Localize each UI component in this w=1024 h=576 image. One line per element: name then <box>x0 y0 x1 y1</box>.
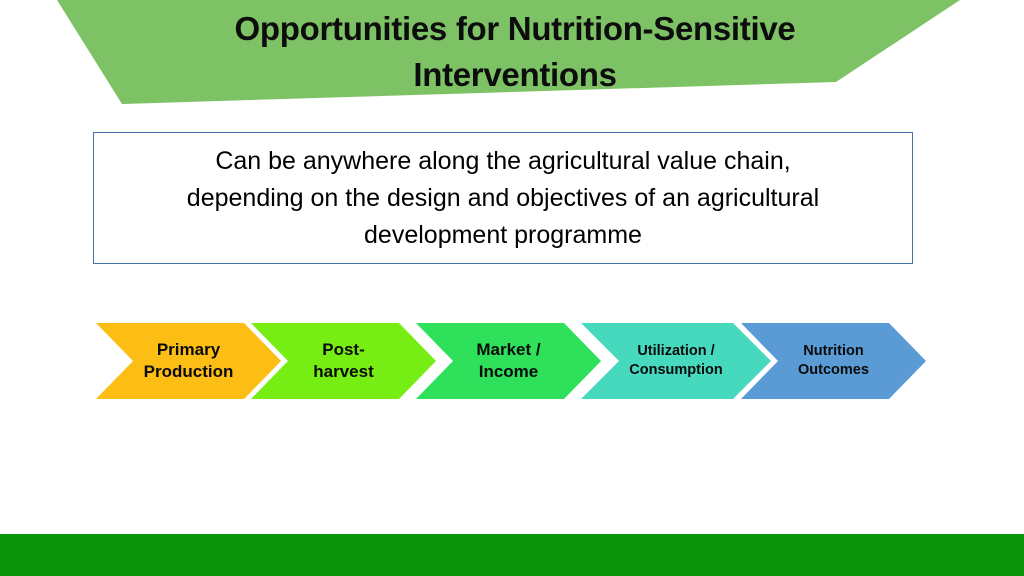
slide-canvas: Opportunities for Nutrition-Sensitive In… <box>0 0 1024 576</box>
value-chain-step-label: Primary Production <box>144 339 234 383</box>
value-chain-step-label: Utilization / Consumption <box>629 342 722 380</box>
page-title: Opportunities for Nutrition-Sensitive In… <box>120 6 910 98</box>
value-chain-step-label: Nutrition Outcomes <box>798 342 869 380</box>
description-text: Can be anywhere along the agricultural v… <box>173 143 833 254</box>
value-chain-step-utilization-consumption[interactable]: Utilization / Consumption <box>581 323 771 399</box>
value-chain-step-label: Post- harvest <box>313 339 373 383</box>
description-box: Can be anywhere along the agricultural v… <box>93 132 913 264</box>
value-chain-diagram: Primary ProductionPost- harvestMarket / … <box>96 323 918 399</box>
value-chain-step-market-income[interactable]: Market / Income <box>416 323 601 399</box>
value-chain-step-label: Market / Income <box>476 339 540 383</box>
footer-bar <box>0 534 1024 576</box>
value-chain-step-primary-production[interactable]: Primary Production <box>96 323 281 399</box>
